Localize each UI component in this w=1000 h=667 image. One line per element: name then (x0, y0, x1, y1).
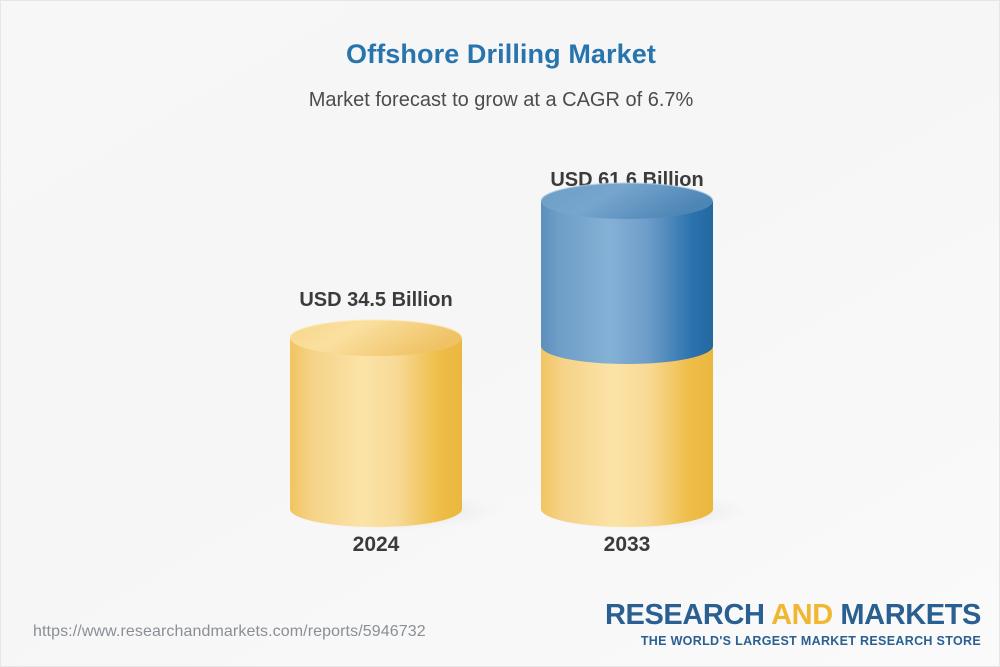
cylinder-segment-base-2033 (541, 346, 713, 527)
cylinder-2033 (527, 161, 727, 541)
cylinder-segment-growth-2033 (541, 201, 713, 364)
brand-logo-research: RESEARCH (605, 599, 771, 631)
brand-logo-tagline: THE WORLD'S LARGEST MARKET RESEARCH STOR… (605, 635, 981, 648)
chart-canvas: Offshore Drilling Market Market forecast… (0, 0, 1000, 667)
brand-logo-name: RESEARCH AND MARKETS (605, 601, 981, 630)
category-label-2033: 2033 (477, 533, 777, 557)
plot-area: USD 34.5 Billion (1, 1, 1000, 601)
cylinder-body-2024 (290, 338, 462, 527)
brand-logo[interactable]: RESEARCH AND MARKETS THE WORLD'S LARGEST… (605, 601, 981, 648)
brand-logo-and: AND (771, 599, 833, 631)
brand-logo-markets: MARKETS (833, 599, 981, 631)
source-url[interactable]: https://www.researchandmarkets.com/repor… (33, 623, 426, 641)
cylinder-2024 (276, 161, 476, 541)
